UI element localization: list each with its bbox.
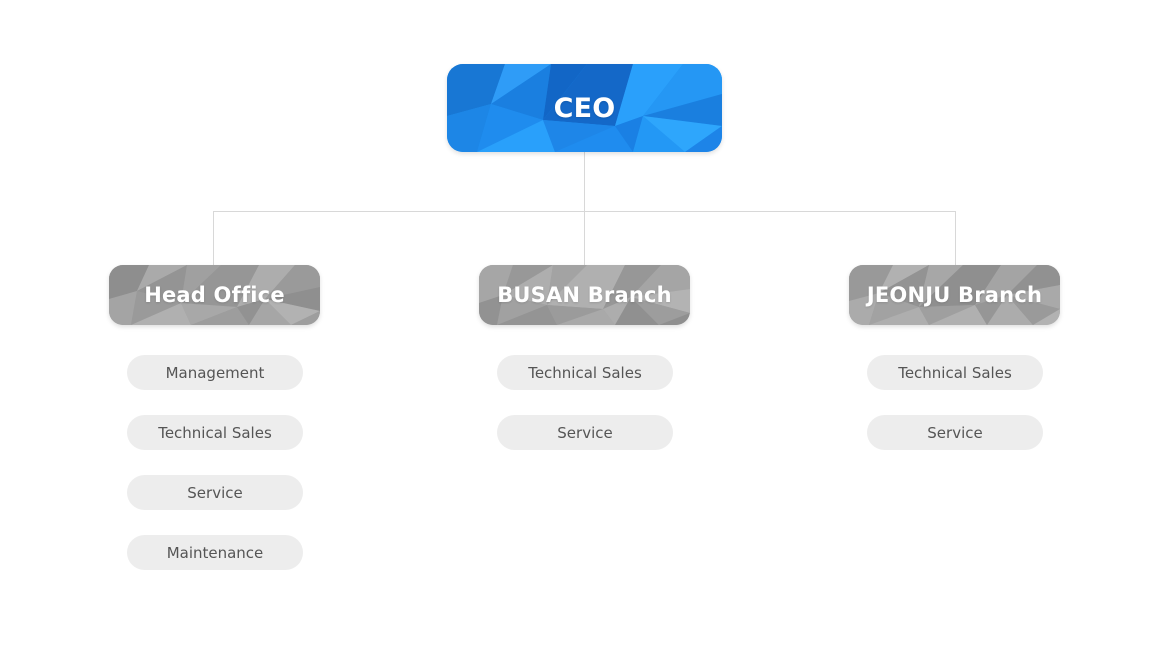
node-jeonju-branch-label: JEONJU Branch [849,265,1060,325]
sub-item[interactable]: Maintenance [127,535,303,570]
sub-items-jeonju-branch: Technical Sales Service [867,355,1043,450]
sub-item[interactable]: Service [867,415,1043,450]
sub-items-head-office: Management Technical Sales Service Maint… [127,355,303,570]
node-busan-branch-label: BUSAN Branch [479,265,690,325]
sub-item[interactable]: Service [497,415,673,450]
node-head-office-label: Head Office [109,265,320,325]
sub-item[interactable]: Management [127,355,303,390]
node-head-office[interactable]: Head Office [109,265,320,325]
node-busan-branch[interactable]: BUSAN Branch [479,265,690,325]
node-ceo[interactable]: CEO [447,64,722,152]
sub-items-busan-branch: Technical Sales Service [497,355,673,450]
sub-item[interactable]: Technical Sales [497,355,673,390]
sub-item[interactable]: Service [127,475,303,510]
node-ceo-label: CEO [447,64,722,152]
node-jeonju-branch[interactable]: JEONJU Branch [849,265,1060,325]
org-chart-canvas: CEO Head Office [0,0,1170,665]
sub-item[interactable]: Technical Sales [867,355,1043,390]
sub-item[interactable]: Technical Sales [127,415,303,450]
